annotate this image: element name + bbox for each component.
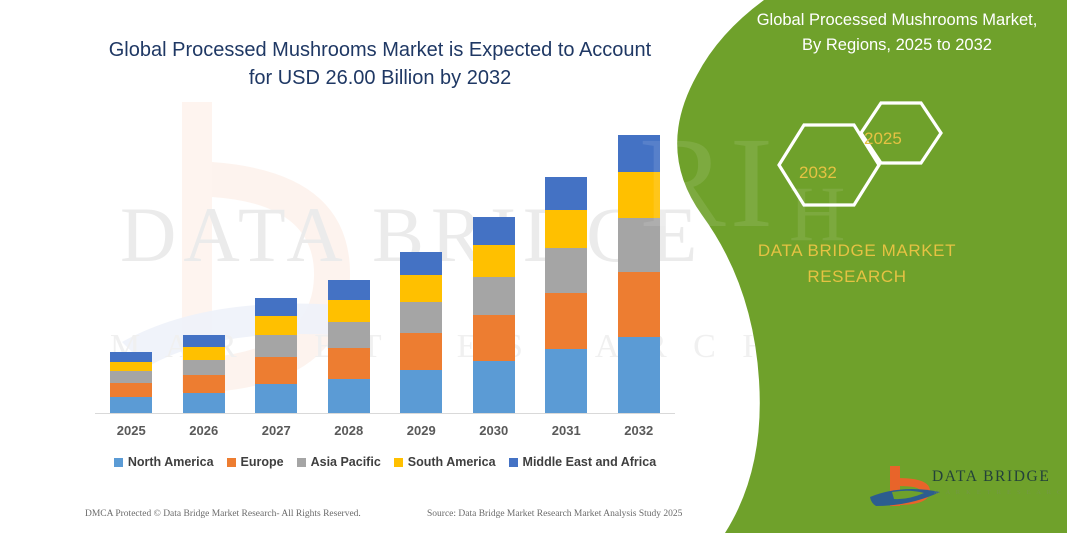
- bar-segment: [400, 252, 442, 276]
- x-axis-labels: 20252026202720282029203020312032: [95, 423, 675, 445]
- chart-title-line-2: for USD 26.00 Billion by 2032: [70, 64, 690, 92]
- bar-segment: [473, 217, 515, 245]
- panel-title: Global Processed Mushrooms Market, By Re…: [742, 8, 1052, 58]
- hexagon-2025-label: 2025: [864, 129, 902, 149]
- stacked-bar: [255, 298, 297, 413]
- bar-segment: [473, 315, 515, 361]
- x-axis-label: 2025: [95, 423, 167, 445]
- stacked-bar: [328, 280, 370, 413]
- bar-segment: [328, 300, 370, 322]
- bar-column: [313, 120, 385, 413]
- bar-segment: [545, 210, 587, 248]
- chart-panel: DATA BRIDGE M A R K E T R E S E A R C H …: [0, 0, 760, 533]
- stacked-bar: [473, 217, 515, 413]
- bar-column: [530, 120, 602, 413]
- x-axis-label: 2031: [530, 423, 602, 445]
- bar-segment: [183, 347, 225, 360]
- logo-tagline: M A R K E T R E S E A R C H: [934, 489, 1067, 496]
- footer-copyright: DMCA Protected © Data Bridge Market Rese…: [85, 509, 361, 519]
- legend-label: Europe: [241, 455, 284, 469]
- bar-segment: [183, 375, 225, 393]
- x-axis-label: 2027: [240, 423, 312, 445]
- hexagon-2032-label: 2032: [799, 163, 837, 183]
- bar-segment: [183, 335, 225, 347]
- bar-column: [168, 120, 240, 413]
- bar-segment: [255, 298, 297, 316]
- brand-name: DATA BRIDGE MARKET RESEARCH: [707, 238, 1007, 290]
- bar-column: [385, 120, 457, 413]
- bar-segment: [183, 360, 225, 375]
- bar-column: [240, 120, 312, 413]
- bar-segment: [110, 383, 152, 397]
- chart-title: Global Processed Mushrooms Market is Exp…: [70, 36, 690, 92]
- bar-segment: [545, 349, 587, 413]
- stacked-bar-chart: [95, 120, 675, 413]
- infographic-root: DATA BRIDGE M A R K E T R E S E A R C H …: [0, 0, 1067, 533]
- x-axis-label: 2026: [168, 423, 240, 445]
- x-axis-label: 2028: [313, 423, 385, 445]
- hexagon-group: [757, 95, 1057, 215]
- stacked-bar: [400, 252, 442, 413]
- panel-title-line-2: By Regions, 2025 to 2032: [742, 33, 1052, 58]
- footer: DMCA Protected © Data Bridge Market Rese…: [0, 505, 760, 529]
- legend-swatch-icon: [509, 458, 518, 467]
- bar-segment: [183, 393, 225, 413]
- chart-legend: North AmericaEuropeAsia PacificSouth Ame…: [95, 455, 675, 469]
- bar-segment: [255, 357, 297, 384]
- footer-source: Source: Data Bridge Market Research Mark…: [427, 509, 682, 519]
- bar-segment: [110, 397, 152, 413]
- legend-label: Asia Pacific: [311, 455, 381, 469]
- legend-label: Middle East and Africa: [523, 455, 657, 469]
- bar-segment: [400, 302, 442, 333]
- x-axis-label: 2030: [458, 423, 530, 445]
- bar-segment: [255, 384, 297, 413]
- logo-wordmark: DATA BRIDGE: [932, 468, 1050, 486]
- bar-segment: [545, 248, 587, 293]
- bar-segment: [473, 361, 515, 413]
- panel-title-line-1: Global Processed Mushrooms Market,: [742, 8, 1052, 33]
- bar-segment: [545, 293, 587, 349]
- brand-line-1: DATA BRIDGE MARKET: [707, 238, 1007, 264]
- stacked-bar: [110, 352, 152, 413]
- legend-item[interactable]: Asia Pacific: [297, 455, 381, 469]
- chart-title-line-1: Global Processed Mushrooms Market is Exp…: [70, 36, 690, 64]
- legend-item[interactable]: Middle East and Africa: [509, 455, 657, 469]
- bar-column: [95, 120, 167, 413]
- legend-swatch-icon: [227, 458, 236, 467]
- green-panel-content: RI H Global Processed Mushrooms Market, …: [647, 0, 1067, 533]
- legend-label: South America: [408, 455, 496, 469]
- legend-swatch-icon: [114, 458, 123, 467]
- bar-segment: [328, 322, 370, 348]
- bar-segment: [328, 379, 370, 413]
- bar-column: [458, 120, 530, 413]
- stacked-bar: [545, 177, 587, 413]
- legend-label: North America: [128, 455, 214, 469]
- legend-item[interactable]: North America: [114, 455, 214, 469]
- bar-segment: [400, 275, 442, 302]
- bar-segment: [328, 348, 370, 379]
- bar-segment: [255, 335, 297, 357]
- legend-swatch-icon: [297, 458, 306, 467]
- bar-segment: [255, 316, 297, 335]
- bar-segment: [400, 370, 442, 413]
- stacked-bar: [183, 335, 225, 413]
- bar-segment: [110, 371, 152, 383]
- legend-item[interactable]: South America: [394, 455, 496, 469]
- bar-segment: [400, 333, 442, 370]
- bar-segment: [328, 280, 370, 299]
- bar-segment: [110, 362, 152, 372]
- x-axis-label: 2029: [385, 423, 457, 445]
- bar-segment: [545, 177, 587, 210]
- brand-line-2: RESEARCH: [707, 264, 1007, 290]
- bar-segment: [473, 277, 515, 314]
- bar-segment: [110, 352, 152, 362]
- legend-swatch-icon: [394, 458, 403, 467]
- bar-segment: [473, 245, 515, 277]
- x-axis-line: [95, 413, 675, 414]
- legend-item[interactable]: Europe: [227, 455, 284, 469]
